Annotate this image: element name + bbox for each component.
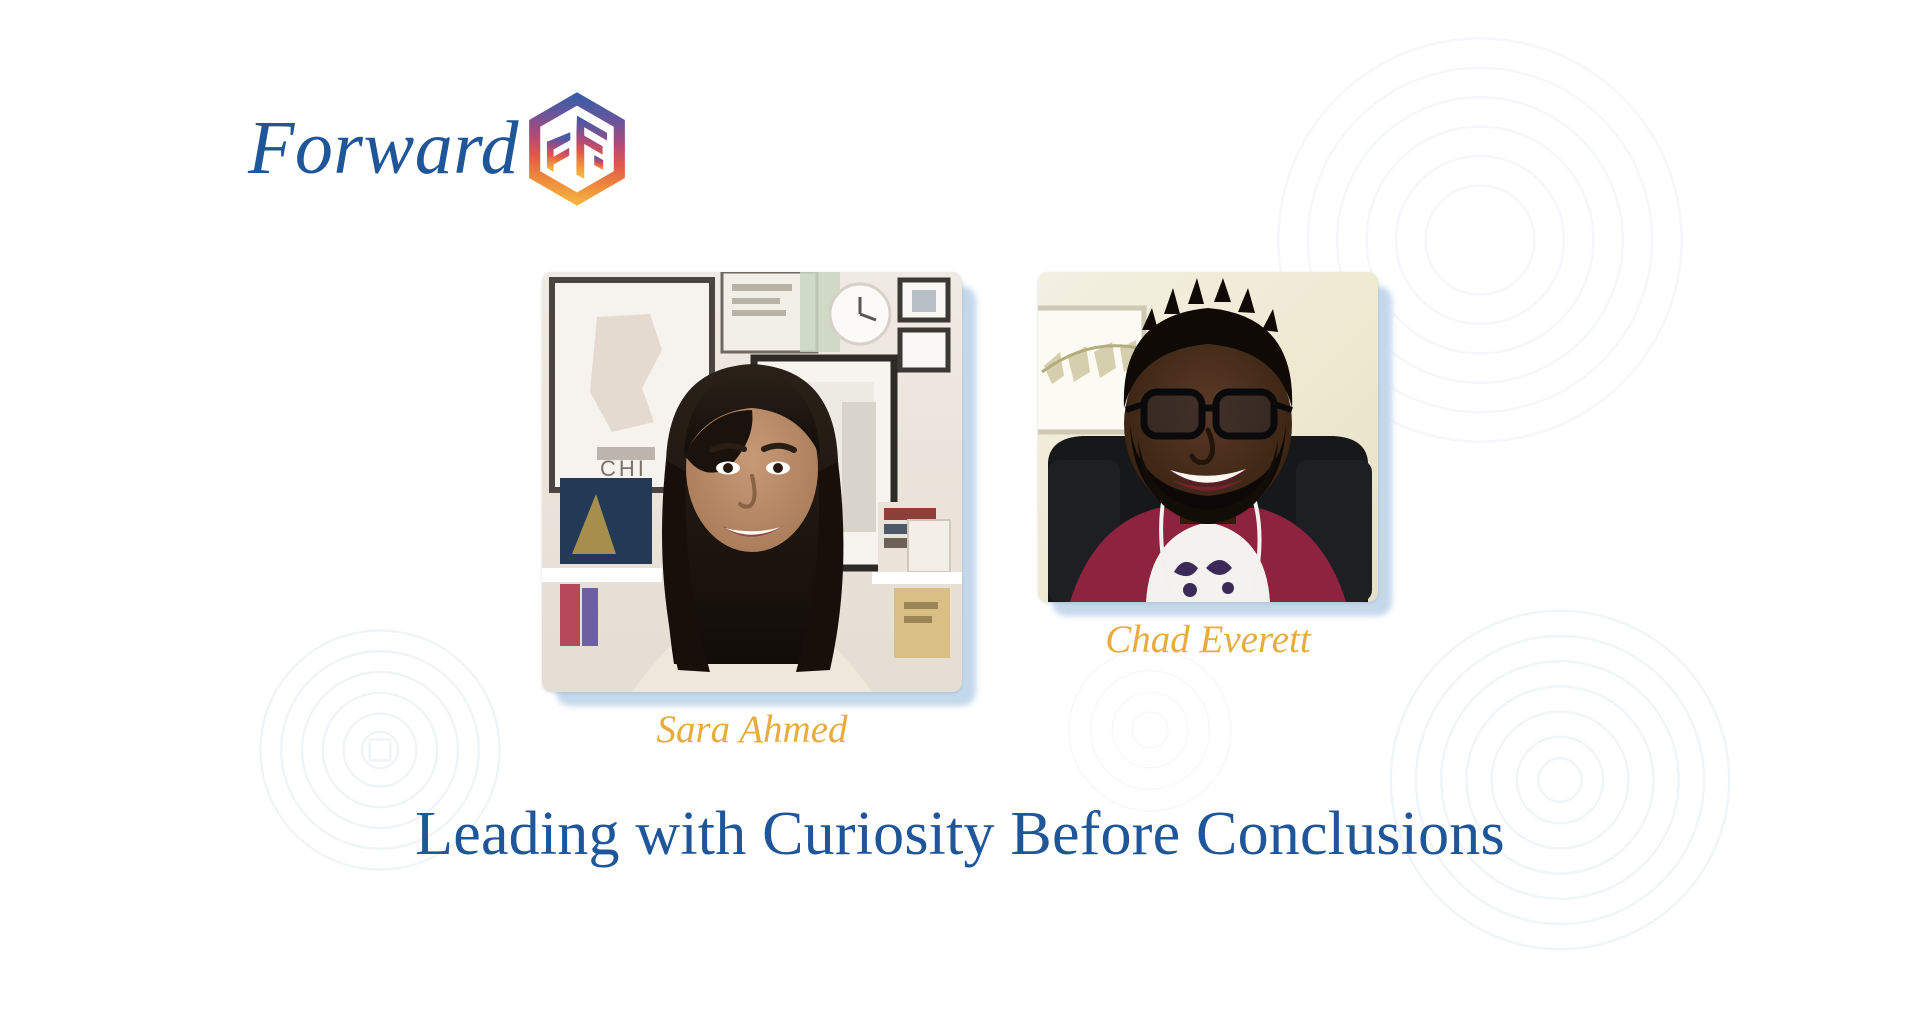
speaker-name-label: Sara Ahmed [656, 710, 847, 749]
speaker-row: CHI [0, 272, 1920, 749]
thumbnail-frame [1038, 272, 1378, 602]
speaker-name-label: Chad Everett [1105, 620, 1310, 659]
svg-text:CHI: CHI [600, 456, 647, 481]
sara-ahmed-video-thumbnail[interactable]: CHI [542, 272, 962, 692]
chad-everett-video-thumbnail[interactable] [1038, 272, 1378, 602]
thumbnail-frame: CHI [542, 272, 962, 692]
brand-wordmark: Forward [248, 110, 519, 186]
video-title-card: Forward [0, 0, 1920, 1012]
hexagon-cube-logo-icon [521, 90, 633, 208]
episode-title: Leading with Curiosity Before Conclusion… [0, 800, 1920, 868]
brand-lockup: Forward [248, 88, 633, 208]
speaker-card-sara-ahmed: CHI [542, 272, 962, 749]
speaker-card-chad-everett: Chad Everett [1038, 272, 1378, 659]
